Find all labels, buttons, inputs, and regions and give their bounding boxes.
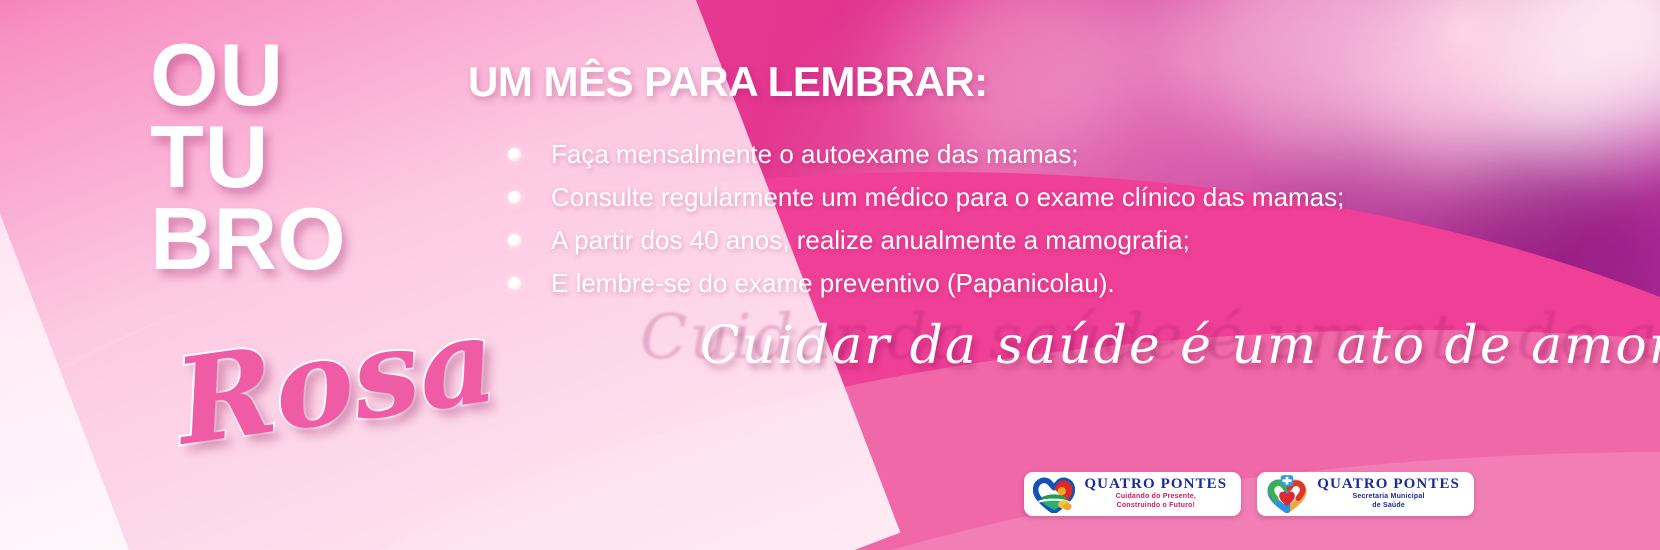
- logo-title: QUATRO PONTES: [1317, 477, 1460, 493]
- outubro-line-3: BRO: [150, 198, 470, 280]
- page-title: UM MÊS PARA LEMBRAR:: [468, 58, 988, 106]
- heart-health-cross-logo-icon: [1266, 475, 1308, 513]
- logo-card-secretaria-saude: QUATRO PONTES Secretaria Municipal de Sa…: [1257, 472, 1474, 516]
- logo-subtitle-line-2: Construindo o Futuro!: [1084, 502, 1227, 511]
- outubro-line-2: TU: [150, 116, 470, 198]
- bullet-dot-icon: [508, 234, 521, 247]
- logo-subtitle-line-2: de Saúde: [1317, 502, 1460, 511]
- list-item: E lembre-se do exame preventivo (Papanic…: [508, 263, 1344, 304]
- logo-card-prefeitura: QUATRO PONTES Cuidando do Presente, Cons…: [1024, 472, 1241, 516]
- logo-subtitle-line-1: Secretaria Municipal: [1317, 493, 1460, 502]
- heart-landscape-logo-icon: [1033, 475, 1075, 513]
- list-item-label: A partir dos 40 anos, realize anualmente…: [551, 225, 1190, 256]
- october-pink-awareness-banner: OU TU BRO Rosa UM MÊS PARA LEMBRAR: Faça…: [0, 0, 1660, 550]
- list-item-label: Faça mensalmente o autoexame das mamas;: [551, 139, 1078, 170]
- outubro-line-1: OU: [150, 34, 470, 116]
- bullet-dot-icon: [508, 148, 521, 161]
- bullet-dot-icon: [508, 191, 521, 204]
- recommendation-list: Faça mensalmente o autoexame das mamas; …: [508, 134, 1344, 306]
- tagline-script: Cuidar da saúde é um ato de amor próprio…: [700, 316, 1660, 376]
- logo-text-block: QUATRO PONTES Cuidando do Presente, Cons…: [1084, 477, 1227, 510]
- bullet-dot-icon: [508, 277, 521, 290]
- logo-subtitle-line-1: Cuidando do Presente,: [1084, 493, 1227, 502]
- list-item: A partir dos 40 anos, realize anualmente…: [508, 220, 1344, 261]
- list-item-label: E lembre-se do exame preventivo (Papanic…: [551, 268, 1115, 299]
- list-item: Faça mensalmente o autoexame das mamas;: [508, 134, 1344, 175]
- logo-group: QUATRO PONTES Cuidando do Presente, Cons…: [1024, 472, 1474, 516]
- list-item-label: Consulte regularmente um médico para o e…: [551, 182, 1344, 213]
- logo-text-block: QUATRO PONTES Secretaria Municipal de Sa…: [1317, 477, 1460, 510]
- logo-title: QUATRO PONTES: [1084, 477, 1227, 493]
- list-item: Consulte regularmente um médico para o e…: [508, 177, 1344, 218]
- outubro-title: OU TU BRO: [150, 34, 470, 279]
